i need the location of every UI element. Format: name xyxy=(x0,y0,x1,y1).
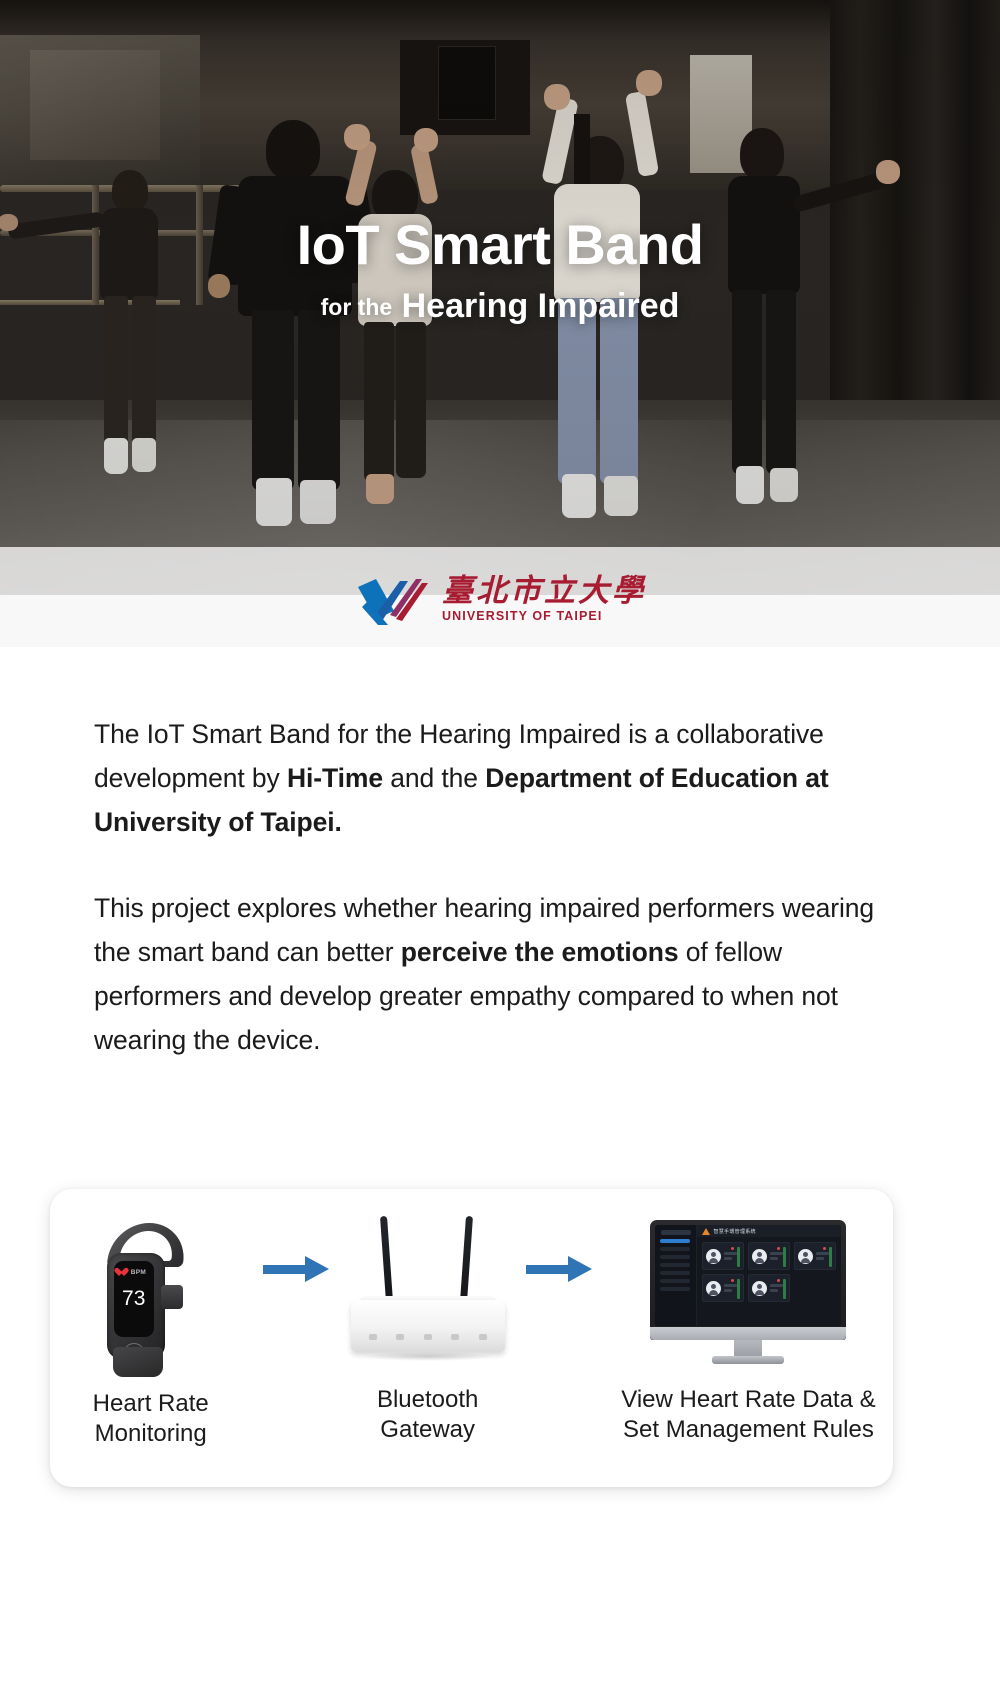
flow-step-bluetooth-gateway: Bluetooth Gateway xyxy=(341,1189,514,1445)
status-badge xyxy=(731,1247,734,1250)
dashboard-user-card[interactable] xyxy=(702,1242,744,1270)
dashboard-sidebar-item[interactable] xyxy=(660,1247,690,1251)
monitor-illustration: 智慧手環管理系統 xyxy=(604,1211,893,1371)
dashboard-main: 智慧手環管理系統 xyxy=(697,1225,841,1326)
band-strap-bottom xyxy=(113,1347,163,1377)
router-body xyxy=(351,1300,505,1352)
dashboard-sidebar-item[interactable] xyxy=(660,1263,690,1267)
flow-step-label-1: Heart Rate Monitoring xyxy=(50,1389,251,1449)
smart-band-device-icon: BPM 73 xyxy=(91,1223,211,1375)
dashboard-sidebar xyxy=(655,1225,697,1326)
flow-arrow-2-cell xyxy=(514,1189,604,1349)
avatar xyxy=(752,1281,767,1296)
dashboard-user-grid xyxy=(697,1237,841,1302)
dashboard-user-card[interactable] xyxy=(748,1242,790,1270)
p1-bold-hi-time: Hi-Time xyxy=(287,763,383,793)
band-case: BPM 73 xyxy=(107,1253,165,1359)
subtitle-lead: for the xyxy=(321,294,393,320)
page-subtitle: for the Hearing Impaired xyxy=(0,289,1000,325)
dashboard-sidebar-title xyxy=(661,1230,691,1235)
monitor-screen: 智慧手環管理系統 xyxy=(655,1225,841,1326)
dashboard-sidebar-item[interactable] xyxy=(660,1287,690,1291)
dashboard-user-card[interactable] xyxy=(794,1242,836,1270)
hero-banner: IoT Smart Band for the Hearing Impaired xyxy=(0,0,1000,595)
dashboard-logo-icon xyxy=(702,1228,710,1235)
band-side-buckle xyxy=(161,1285,183,1309)
dashboard-user-card[interactable] xyxy=(748,1274,790,1302)
monitor-bezel: 智慧手環管理系統 xyxy=(650,1220,846,1340)
status-badge xyxy=(823,1247,826,1250)
wireless-router-icon xyxy=(343,1216,513,1371)
status-badge xyxy=(731,1279,734,1282)
university-logo: 臺北市立大學 UNIVERSITY OF TAIPEI xyxy=(354,571,646,627)
heart-rate-bar xyxy=(829,1247,832,1267)
device-flow-card: BPM 73 Heart Rate Monitoring xyxy=(50,1189,893,1487)
dashboard-user-card[interactable] xyxy=(702,1274,744,1302)
arrow-right-icon xyxy=(263,1256,329,1282)
band-bpm-row: BPM xyxy=(119,1268,146,1276)
avatar xyxy=(798,1249,813,1264)
dashboard-sidebar-item[interactable] xyxy=(660,1255,690,1259)
device-flow: BPM 73 Heart Rate Monitoring xyxy=(50,1189,893,1487)
dashboard-sidebar-item[interactable] xyxy=(660,1239,690,1243)
heart-rate-bar xyxy=(737,1279,740,1299)
university-name-block: 臺北市立大學 UNIVERSITY OF TAIPEI xyxy=(442,575,646,623)
p1-text-2: and the xyxy=(383,763,485,793)
router-led xyxy=(451,1334,459,1340)
paragraph-intro: The IoT Smart Band for the Hearing Impai… xyxy=(94,712,894,844)
band-metric-label: BPM xyxy=(131,1269,146,1276)
flow-arrow-1-cell xyxy=(251,1189,341,1349)
monitor-stand-base xyxy=(712,1356,784,1364)
avatar xyxy=(706,1281,721,1296)
body-copy: The IoT Smart Band for the Hearing Impai… xyxy=(94,712,894,1062)
dashboard-sidebar-item[interactable] xyxy=(660,1279,690,1283)
paragraph-project: This project explores whether hearing im… xyxy=(94,886,894,1062)
smart-band-illustration: BPM 73 xyxy=(50,1215,251,1375)
avatar xyxy=(752,1249,767,1264)
arrow-right-icon xyxy=(526,1256,592,1282)
dashboard-sidebar-item[interactable] xyxy=(660,1271,690,1275)
uot-logo-mark-icon xyxy=(354,571,428,627)
router-led xyxy=(424,1334,432,1340)
desktop-monitor-icon: 智慧手環管理系統 xyxy=(650,1216,846,1371)
dashboard-header-title: 智慧手環管理系統 xyxy=(713,1228,755,1235)
router-led xyxy=(396,1334,404,1340)
flow-step-heart-rate-monitoring: BPM 73 Heart Rate Monitoring xyxy=(50,1189,251,1449)
avatar xyxy=(706,1249,721,1264)
university-name-cn: 臺北市立大學 xyxy=(442,575,646,606)
router-led-row xyxy=(369,1334,487,1340)
flow-step-label-2: Bluetooth Gateway xyxy=(341,1385,514,1445)
router-antenna-left xyxy=(380,1216,393,1302)
heart-rate-bar xyxy=(783,1247,786,1267)
p2-bold-perceive: perceive the emotions xyxy=(401,937,679,967)
page-title: IoT Smart Band xyxy=(0,216,1000,275)
status-badge xyxy=(777,1279,780,1282)
router-led xyxy=(479,1334,487,1340)
university-name-en: UNIVERSITY OF TAIPEI xyxy=(442,609,646,623)
flow-step-view-data-set-rules: 智慧手環管理系統 xyxy=(604,1189,893,1445)
university-logo-band: 臺北市立大學 UNIVERSITY OF TAIPEI xyxy=(0,547,1000,647)
heart-rate-bar xyxy=(783,1279,786,1299)
heart-icon xyxy=(119,1268,128,1276)
band-heart-rate-value: 73 xyxy=(114,1287,154,1311)
router-illustration xyxy=(341,1211,514,1371)
dashboard-header: 智慧手環管理系統 xyxy=(697,1225,841,1237)
router-shadow xyxy=(361,1352,495,1361)
status-badge xyxy=(777,1247,780,1250)
router-antenna-right xyxy=(460,1216,473,1302)
monitor-chin xyxy=(650,1327,846,1340)
flow-step-label-3: View Heart Rate Data & Set Management Ru… xyxy=(604,1385,893,1445)
heart-rate-bar xyxy=(737,1247,740,1267)
subtitle-main: Hearing Impaired xyxy=(402,287,680,325)
router-led xyxy=(369,1334,377,1340)
hero-text-block: IoT Smart Band for the Hearing Impaired xyxy=(0,216,1000,324)
band-screen: BPM 73 xyxy=(114,1261,154,1337)
